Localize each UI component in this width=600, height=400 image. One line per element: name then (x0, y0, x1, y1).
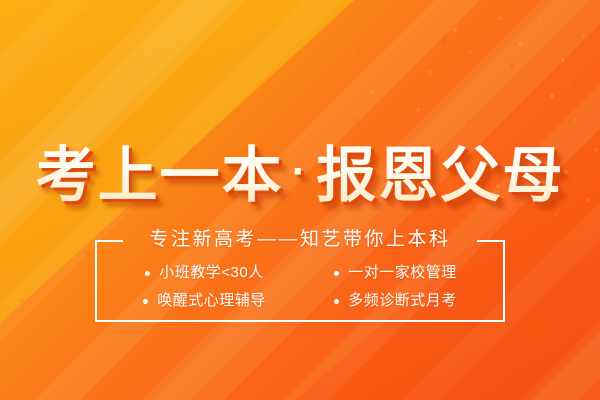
headline-left: 考上一本 (36, 142, 284, 209)
feature-label: 一对一家校管理 (348, 262, 457, 284)
feature-label: 多频诊断式月考 (348, 290, 457, 312)
bullet-icon (334, 299, 339, 304)
bullet-icon (143, 299, 148, 304)
headline-separator-dot: · (284, 147, 317, 196)
bullet-icon (334, 271, 339, 276)
feature-item: 一对一家校管理 (300, 262, 491, 284)
feature-list: 小班教学<30人 一对一家校管理 唤醒式心理辅导 多频诊断式月考 (95, 262, 505, 312)
headline-right: 报恩父母 (316, 142, 564, 209)
promo-banner: 考上一本·报恩父母 专注新高考——知艺带你上本科 小班教学<30人 一对一家校管… (0, 0, 600, 400)
bullet-icon (145, 271, 150, 276)
subtitle: 专注新高考——知艺带你上本科 (0, 228, 600, 252)
feature-label: 唤醒式心理辅导 (157, 290, 266, 312)
feature-item: 多频诊断式月考 (300, 290, 491, 312)
feature-item: 唤醒式心理辅导 (109, 290, 300, 312)
feature-label: 小班教学<30人 (159, 262, 263, 284)
feature-item: 小班教学<30人 (109, 262, 300, 284)
headline: 考上一本·报恩父母 (0, 138, 600, 210)
